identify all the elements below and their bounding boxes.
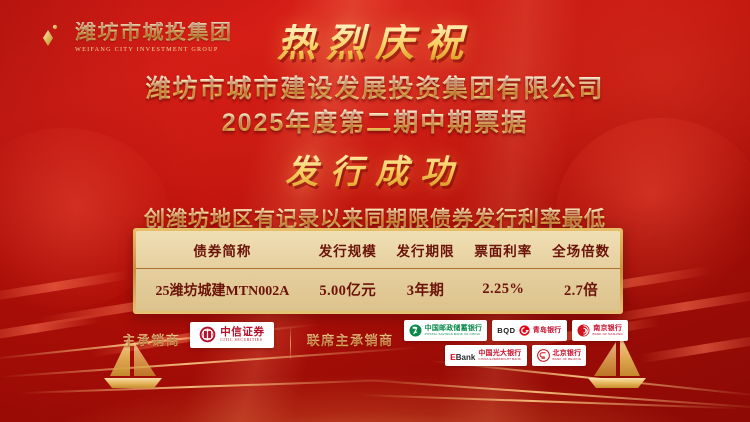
cell-bond-name: 25潍坊城建MTN002A: [136, 269, 309, 312]
joint-underwriter-label: 联席主承销商: [307, 320, 394, 349]
celebration-poster: 潍坊市城投集团 WEIFANG CITY INVESTMENT GROUP 热烈…: [0, 0, 750, 422]
qingdao-bank-abbr: BQD: [497, 326, 515, 335]
beijing-bank-icon: [537, 349, 550, 362]
col-subscription-multiple: 全场倍数: [542, 231, 620, 269]
joint-logo-row-1: 中国邮政储蓄银行 POSTAL SAVINGS BANK OF CHINA BQ…: [404, 320, 628, 341]
company-name: 潍坊市城市建设发展投资集团有限公司: [0, 75, 750, 105]
postal-savings-name-en: POSTAL SAVINGS BANK OF CHINA: [425, 333, 480, 336]
cell-subscription-multiple: 2.7倍: [542, 269, 620, 312]
section-divider: [290, 326, 291, 362]
joint-logo-grid: 中国邮政储蓄银行 POSTAL SAVINGS BANK OF CHINA BQ…: [404, 320, 628, 366]
col-coupon-rate: 票面利率: [464, 231, 542, 269]
brand-name-en: WEIFANG CITY INVESTMENT GROUP: [75, 47, 233, 53]
success-title: 发行成功: [0, 145, 750, 193]
qingdao-bank-logo: BQD 青岛银行: [492, 320, 566, 341]
qingdao-bank-icon: [519, 325, 530, 336]
issue-name: 2025年度第二期中期票据: [0, 109, 750, 139]
everbright-bank-logo: EBank 中国光大银行 CHINA EVERBRIGHT BANK: [445, 345, 526, 366]
postal-savings-icon: [409, 324, 422, 337]
beijing-bank-name-en: BANK OF BEIJING: [553, 358, 582, 361]
underwriters-section: 主承销商 中信证券 CITIC SECURITIES 联席主承销商: [0, 320, 750, 366]
lead-underwriter-label: 主承销商: [122, 320, 180, 349]
col-bond-name: 债券简称: [136, 231, 309, 269]
nanjing-bank-name-en: BANK OF NANJING: [593, 333, 623, 336]
everbright-name-en: CHINA EVERBRIGHT BANK: [478, 358, 521, 361]
brand-name-cn: 潍坊市城投集团: [75, 22, 233, 43]
postal-savings-bank-logo: 中国邮政储蓄银行 POSTAL SAVINGS BANK OF CHINA: [404, 320, 488, 341]
cell-issue-term: 3年期: [387, 269, 465, 312]
cell-issue-size: 5.00亿元: [309, 269, 387, 312]
crescent-diamond-logo-icon: [22, 16, 66, 60]
everbright-abbr: EBank: [450, 347, 475, 365]
joint-logo-row-2: EBank 中国光大银行 CHINA EVERBRIGHT BANK: [404, 345, 628, 366]
bond-table-frame: 债券简称 发行规模 发行期限 票面利率 全场倍数 25潍坊城建MTN002A 5…: [133, 228, 623, 314]
col-issue-term: 发行期限: [387, 231, 465, 269]
nanjing-bank-icon: [577, 324, 590, 337]
cell-coupon-rate: 2.25%: [464, 269, 542, 312]
citic-emblem-icon: [199, 326, 216, 343]
citic-securities-logo: 中信证券 CITIC SECURITIES: [190, 322, 273, 348]
qingdao-bank-name-cn: 青岛银行: [533, 327, 562, 334]
col-issue-size: 发行规模: [309, 231, 387, 269]
bond-table: 债券简称 发行规模 发行期限 票面利率 全场倍数 25潍坊城建MTN002A 5…: [136, 231, 620, 311]
table-header-row: 债券简称 发行规模 发行期限 票面利率 全场倍数: [136, 231, 620, 269]
joint-underwriters-group: 联席主承销商 中国邮政储蓄银行 POSTAL SAVINGS BANK OF C…: [307, 320, 628, 366]
citic-name-en: CITIC SECURITIES: [220, 338, 262, 342]
lead-underwriter-group: 主承销商 中信证券 CITIC SECURITIES: [122, 320, 273, 349]
nanjing-bank-logo: 南京银行 BANK OF NANJING: [572, 320, 628, 341]
brand-logo: 潍坊市城投集团 WEIFANG CITY INVESTMENT GROUP: [22, 16, 233, 60]
table-row: 25潍坊城建MTN002A 5.00亿元 3年期 2.25% 2.7倍: [136, 269, 620, 312]
beijing-bank-logo: 北京银行 BANK OF BEIJING: [532, 345, 587, 366]
